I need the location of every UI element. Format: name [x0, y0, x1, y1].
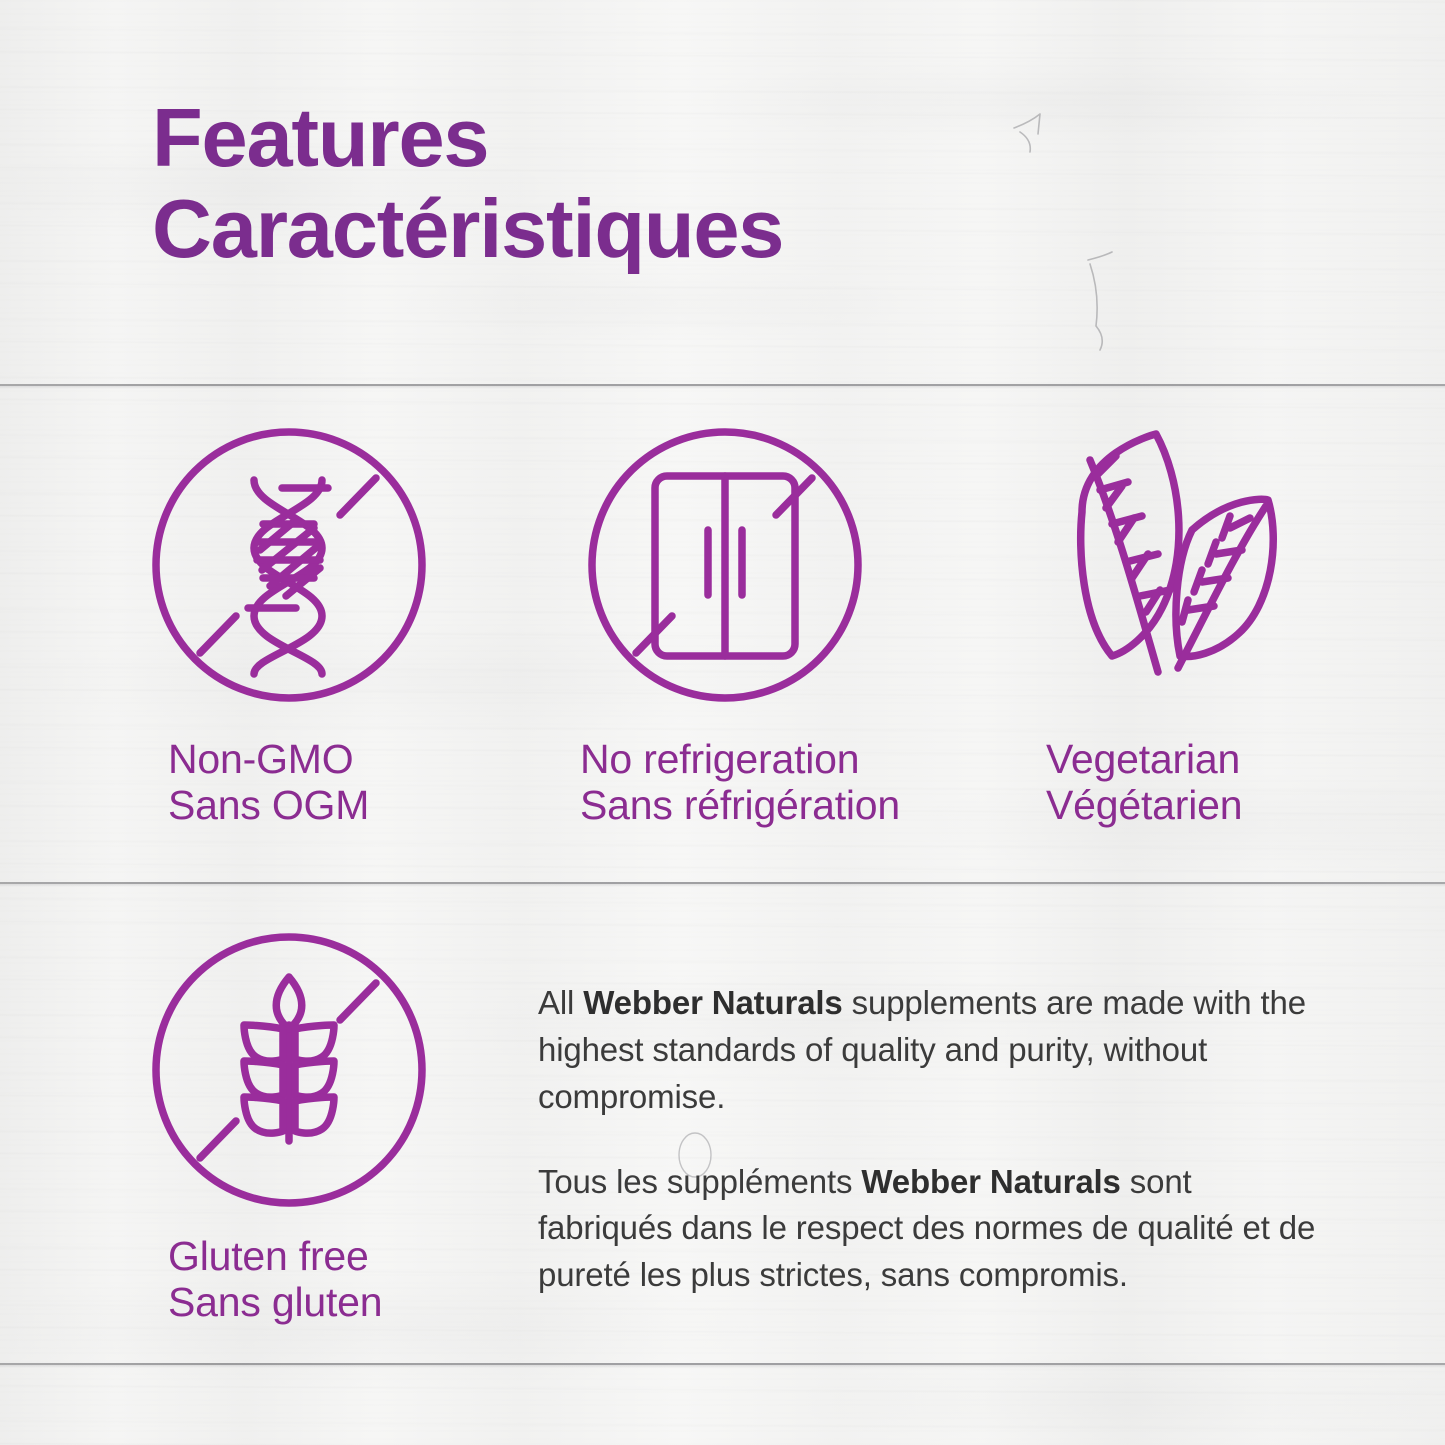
feature-item-vegetarian: Vegetarian Végétarien — [1030, 420, 1410, 829]
no-gmo-dna-icon — [144, 420, 504, 720]
feature-item-gluten-free: Gluten free Sans gluten — [144, 925, 514, 1326]
feature-label-no-refrigeration: No refrigeration Sans réfrigération — [580, 736, 1000, 829]
brand-copy-en: All Webber Naturals supplements are made… — [538, 980, 1328, 1121]
copy-en-brand: Webber Naturals — [583, 984, 842, 1021]
features-panel: Features Caractéristiques — [0, 0, 1445, 1445]
gluten-free-wheat-icon — [144, 925, 514, 1215]
copy-en-before: All — [538, 984, 583, 1021]
page-title-en: Features — [152, 91, 488, 184]
feature-row-top: Non-GMO Sans OGM — [0, 420, 1445, 850]
feature-item-non-gmo: Non-GMO Sans OGM — [144, 420, 504, 829]
page-title-fr: Caractéristiques — [152, 187, 1332, 272]
copy-fr-before: Tous les suppléments — [538, 1163, 861, 1200]
feature-label-fr: Végétarien — [1046, 782, 1410, 828]
feature-label-en: Non-GMO — [168, 736, 353, 782]
feature-label-gluten-free: Gluten free Sans gluten — [144, 1233, 514, 1326]
feature-label-fr: Sans gluten — [168, 1279, 514, 1325]
brand-copy-block: All Webber Naturals supplements are made… — [538, 980, 1328, 1299]
feature-label-fr: Sans réfrigération — [580, 782, 1000, 828]
feature-label-fr: Sans OGM — [168, 782, 504, 828]
brand-copy-fr: Tous les suppléments Webber Naturals son… — [538, 1159, 1328, 1300]
feature-label-vegetarian: Vegetarian Végétarien — [1030, 736, 1410, 829]
feature-label-en: Vegetarian — [1046, 736, 1240, 782]
feature-label-non-gmo: Non-GMO Sans OGM — [144, 736, 504, 829]
copy-fr-brand: Webber Naturals — [861, 1163, 1120, 1200]
page-title: Features Caractéristiques — [152, 96, 1332, 271]
no-refrigeration-fridge-icon — [580, 420, 1000, 720]
feature-label-en: Gluten free — [168, 1233, 369, 1279]
feature-item-no-refrigeration: No refrigeration Sans réfrigération — [580, 420, 1000, 829]
vegetarian-leaves-icon — [1030, 420, 1410, 720]
feature-label-en: No refrigeration — [580, 736, 859, 782]
